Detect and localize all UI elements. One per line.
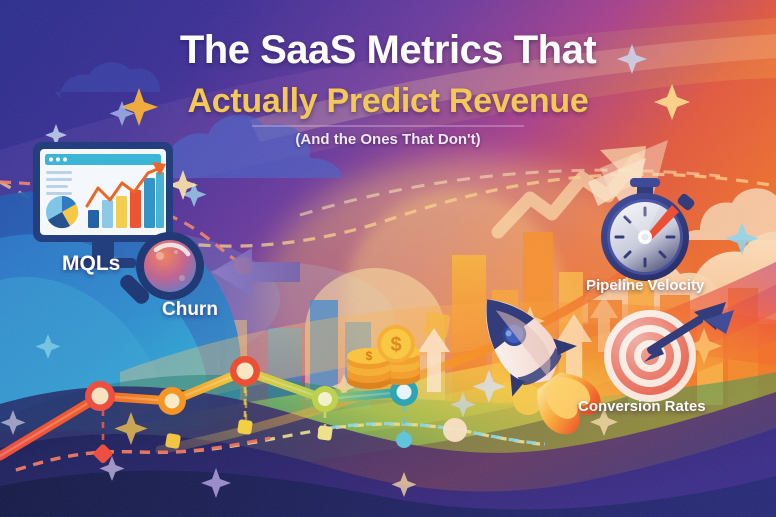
page-subtitle: (And the Ones That Don't) bbox=[0, 131, 776, 148]
metric-label-pipeline-velocity: Pipeline Velocity bbox=[586, 277, 704, 294]
metric-label-conversion-rates: Conversion Rates bbox=[578, 398, 706, 415]
metric-label-mqls: MQLs bbox=[62, 252, 120, 276]
poster-canvas: $ $ bbox=[0, 0, 776, 517]
page-title-line2: Actually Predict Revenue bbox=[0, 82, 776, 121]
metric-label-churn: Churn bbox=[162, 299, 218, 321]
page-title-line1: The SaaS Metrics That bbox=[0, 28, 776, 73]
